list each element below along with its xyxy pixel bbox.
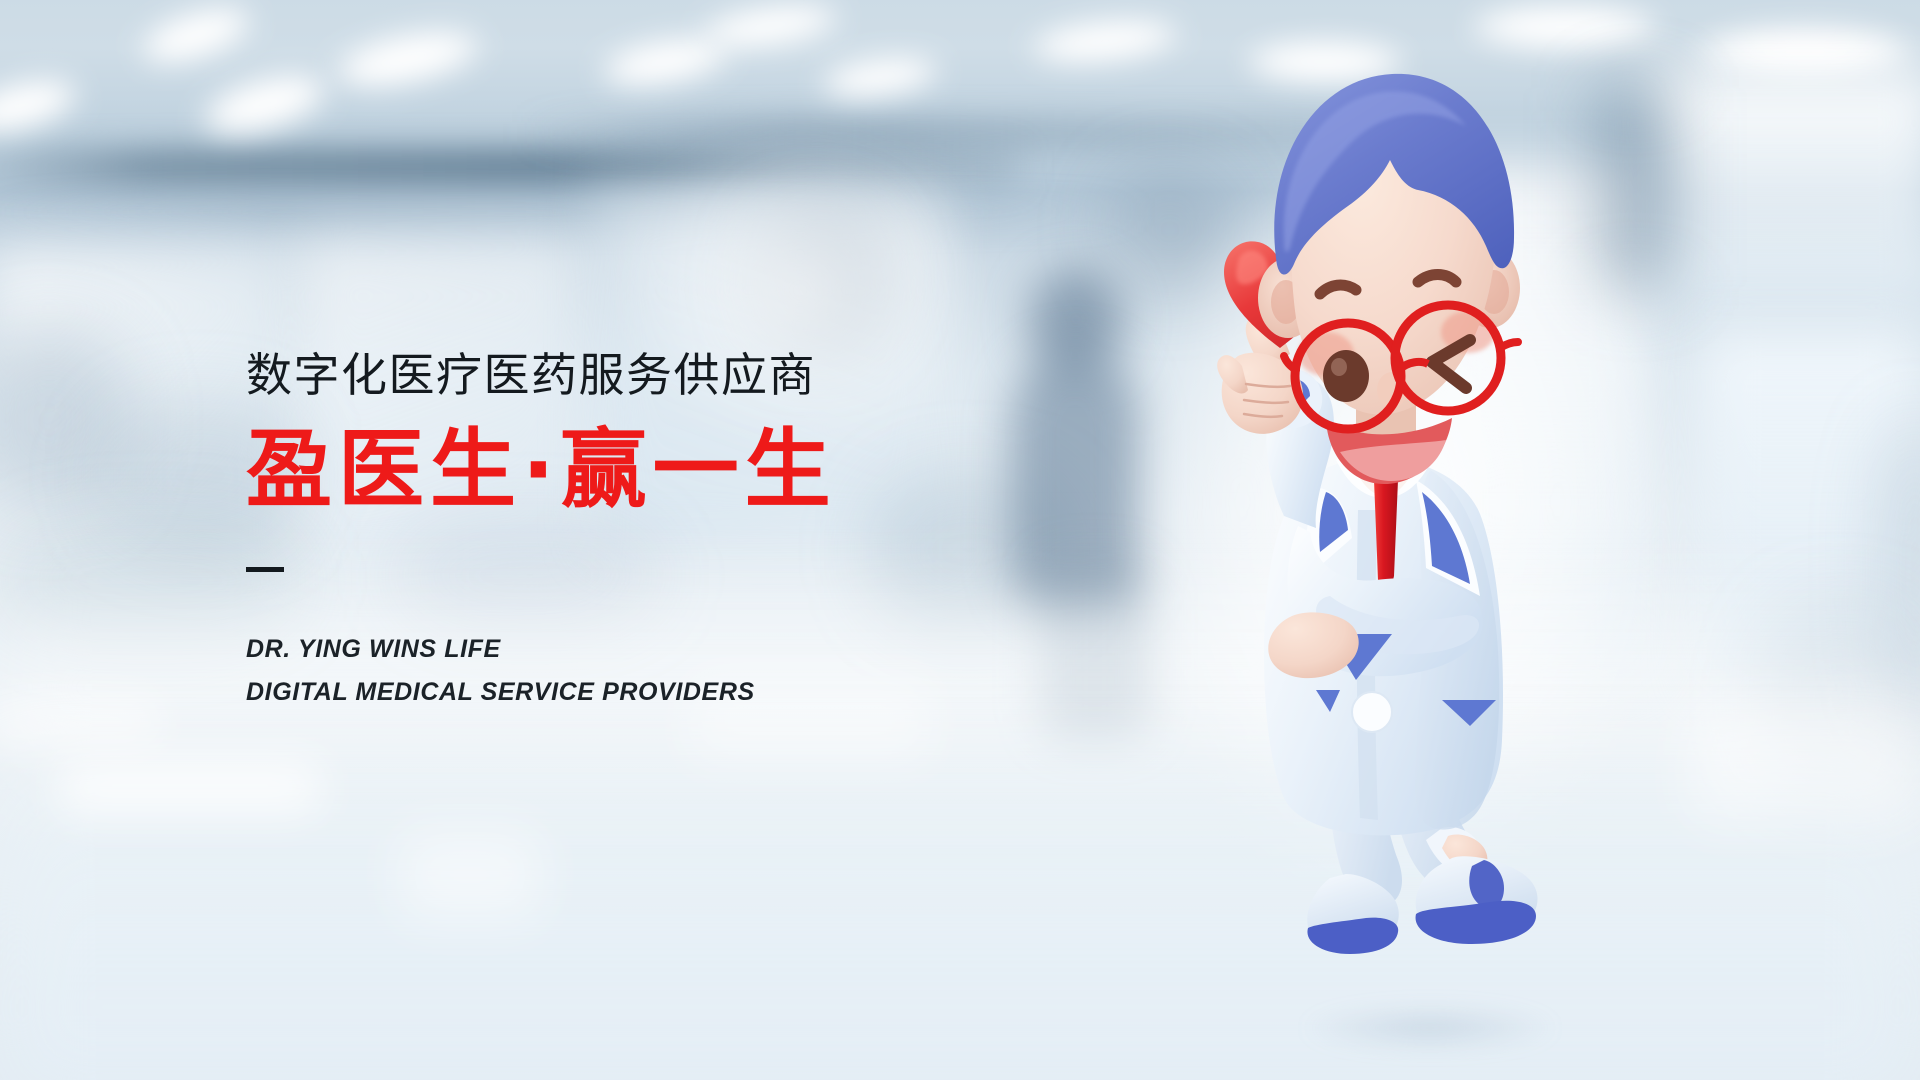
background-structure — [1600, 88, 1670, 288]
background-structure — [760, 215, 880, 345]
cartoon-doctor-mascot — [1180, 40, 1600, 1040]
hero-subtitle: DR. YING WINS LIFE DIGITAL MEDICAL SERVI… — [246, 628, 837, 714]
floor-reflection — [0, 700, 160, 744]
ceiling-beam — [0, 205, 1150, 219]
hero-banner: 数字化医疗医药服务供应商 盈医生·赢一生 DR. YING WINS LIFE … — [0, 0, 1920, 1080]
ceiling-beam — [0, 150, 1020, 184]
hero-subtitle-line2: DIGITAL MEDICAL SERVICE PROVIDERS — [246, 671, 837, 714]
hero-headline: 盈医生·赢一生 — [246, 426, 837, 515]
floor-reflection — [400, 830, 540, 920]
hero-copy-block: 数字化医疗医药服务供应商 盈医生·赢一生 DR. YING WINS LIFE … — [246, 352, 837, 714]
floor-reflection — [60, 760, 320, 814]
floor-reflection — [1690, 700, 1920, 820]
open-eye — [1323, 350, 1369, 402]
hero-subtitle-line1: DR. YING WINS LIFE — [246, 628, 837, 671]
glass-partition — [1650, 70, 1920, 320]
hero-kicker: 数字化医疗医药服务供应商 — [246, 352, 837, 398]
hero-divider — [246, 567, 284, 572]
